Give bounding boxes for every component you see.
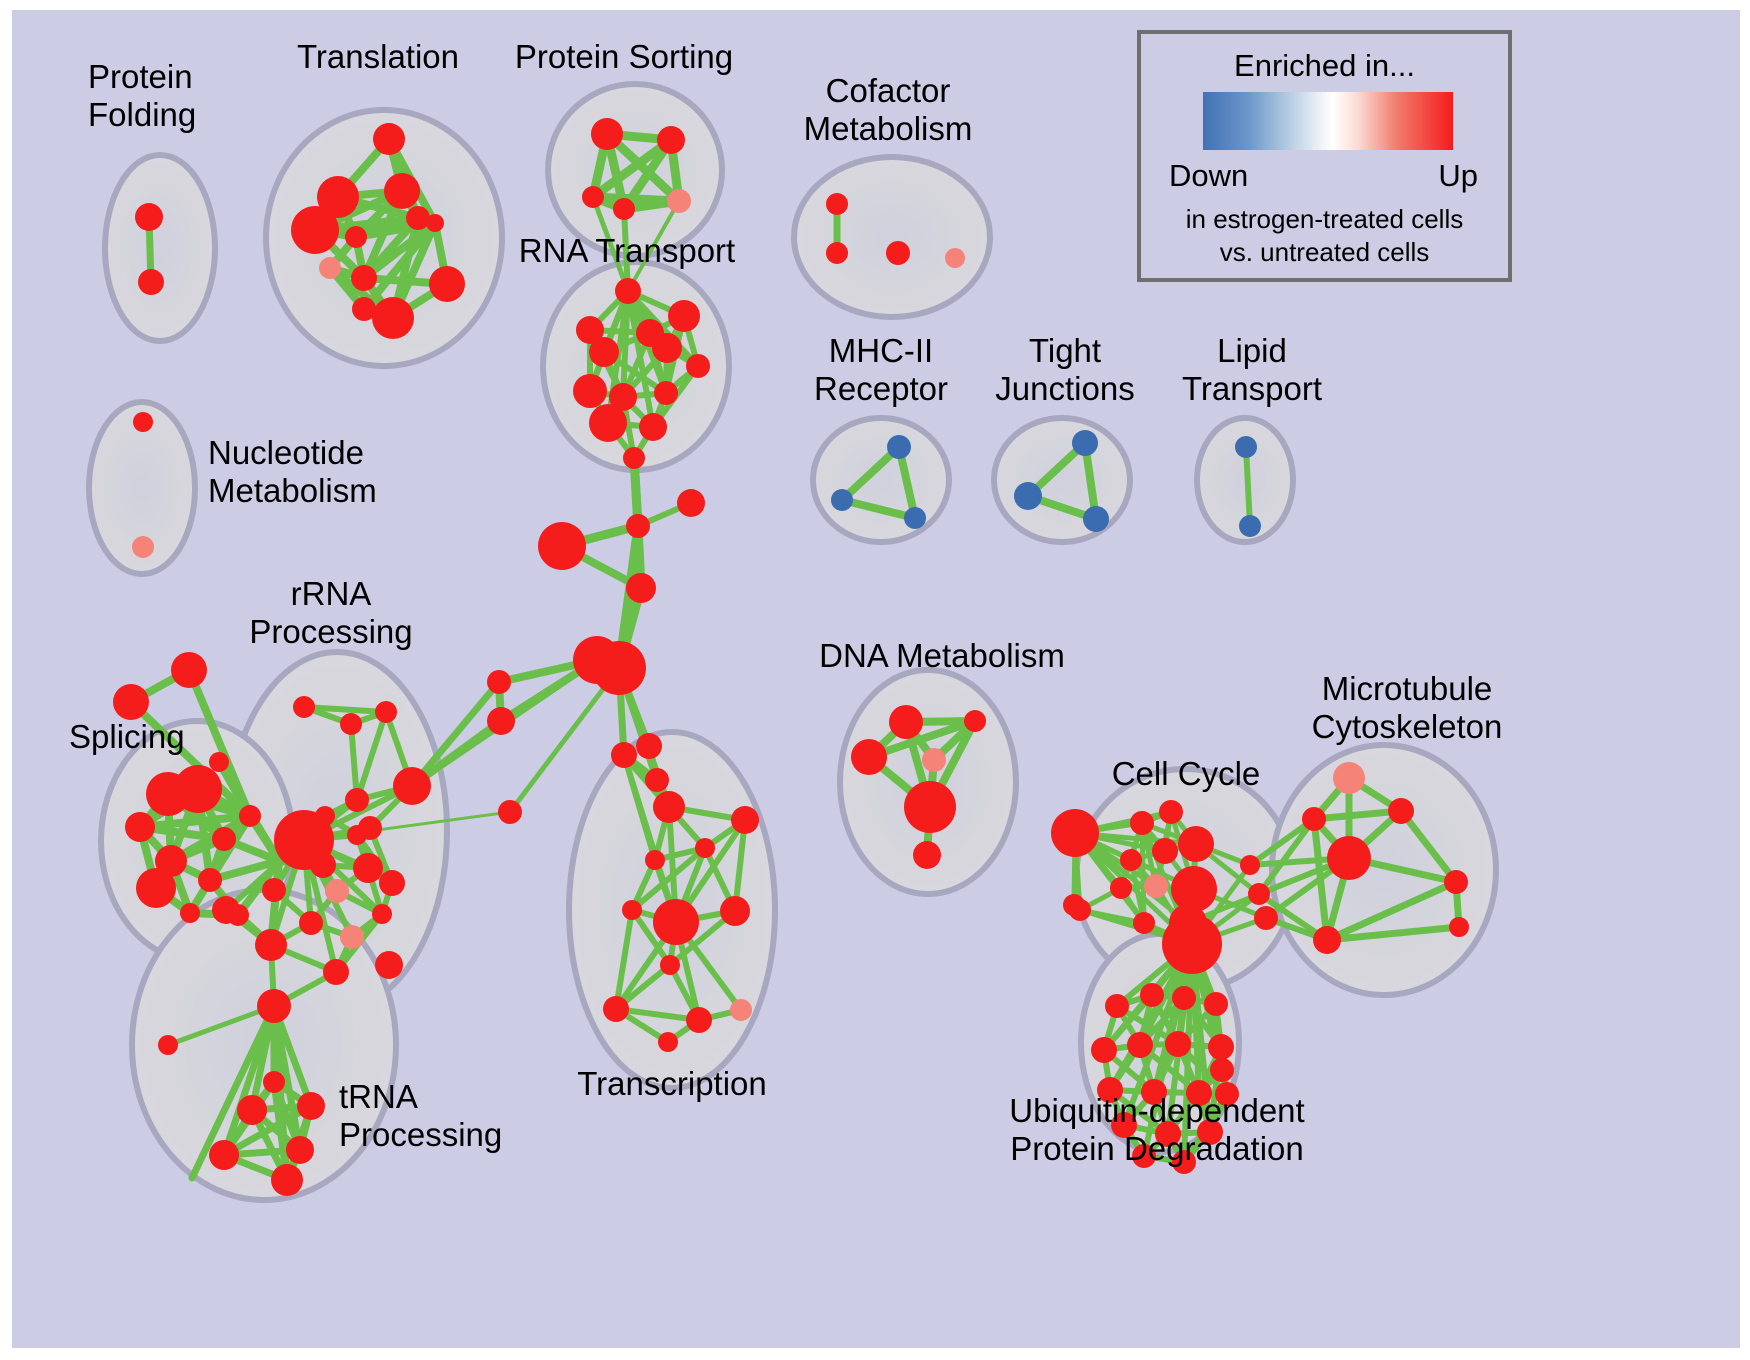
node bbox=[372, 297, 414, 339]
node bbox=[1204, 992, 1228, 1016]
node bbox=[573, 374, 607, 408]
node bbox=[209, 752, 229, 772]
node bbox=[132, 536, 154, 558]
node bbox=[1254, 906, 1278, 930]
cluster-label-tight-junctions: Tight Junctions bbox=[995, 332, 1134, 408]
node bbox=[384, 173, 420, 209]
node bbox=[291, 206, 339, 254]
node bbox=[654, 381, 678, 405]
color-scale-gradient bbox=[1203, 92, 1453, 150]
node bbox=[1072, 430, 1098, 456]
node bbox=[826, 242, 848, 264]
node bbox=[297, 1092, 325, 1120]
node bbox=[1449, 917, 1469, 937]
node bbox=[113, 684, 149, 720]
node bbox=[212, 827, 236, 851]
node bbox=[353, 853, 383, 883]
node bbox=[667, 189, 691, 213]
node bbox=[1444, 870, 1468, 894]
node bbox=[375, 701, 397, 723]
cluster-label-dna-metabolism: DNA Metabolism bbox=[819, 637, 1065, 675]
node bbox=[1127, 1032, 1153, 1058]
legend-high-label: Up bbox=[1438, 158, 1478, 194]
node bbox=[498, 800, 522, 824]
node bbox=[293, 696, 315, 718]
node bbox=[174, 765, 222, 813]
node bbox=[1388, 798, 1414, 824]
cluster-label-ubiquitin-protein-degradation: Ubiquitin-dependent Protein Degradation bbox=[1009, 1092, 1304, 1168]
node bbox=[209, 1140, 239, 1170]
node bbox=[730, 999, 752, 1021]
node bbox=[323, 959, 349, 985]
node bbox=[138, 269, 164, 295]
node bbox=[615, 278, 641, 304]
node bbox=[686, 1007, 712, 1033]
node bbox=[904, 507, 926, 529]
cluster-label-cell-cycle: Cell Cycle bbox=[1112, 755, 1261, 793]
cluster-label-splicing: Splicing bbox=[69, 718, 185, 756]
node bbox=[1327, 836, 1371, 880]
node bbox=[158, 1035, 178, 1055]
node bbox=[831, 489, 853, 511]
node bbox=[904, 781, 956, 833]
node bbox=[1133, 912, 1155, 934]
node bbox=[922, 748, 946, 772]
node bbox=[286, 1136, 314, 1164]
legend-title: Enriched in... bbox=[1141, 48, 1508, 84]
node bbox=[198, 868, 222, 892]
node bbox=[1235, 436, 1257, 458]
node bbox=[351, 265, 377, 291]
node bbox=[239, 805, 261, 827]
node bbox=[945, 248, 965, 268]
node bbox=[1130, 811, 1154, 835]
node bbox=[1152, 838, 1178, 864]
enrichment-map-figure: Protein Folding Translation Protein Sort… bbox=[0, 0, 1750, 1360]
network-canvas: Protein Folding Translation Protein Sort… bbox=[12, 10, 1740, 1348]
node bbox=[1208, 1034, 1234, 1060]
node bbox=[487, 670, 511, 694]
node bbox=[1210, 1058, 1234, 1082]
node bbox=[591, 118, 623, 150]
node bbox=[668, 300, 700, 332]
node bbox=[1159, 800, 1183, 824]
node bbox=[1014, 482, 1042, 510]
cluster-label-microtubule-cytoskeleton: Microtubule Cytoskeleton bbox=[1312, 670, 1503, 746]
node bbox=[171, 652, 207, 688]
cluster-ellipse-mhc bbox=[813, 418, 949, 542]
node bbox=[212, 896, 240, 924]
node bbox=[299, 911, 323, 935]
node bbox=[660, 955, 680, 975]
node bbox=[636, 733, 662, 759]
cluster-label-transcription: Transcription bbox=[577, 1065, 767, 1103]
node bbox=[373, 123, 405, 155]
node bbox=[125, 812, 155, 842]
node bbox=[851, 739, 887, 775]
node bbox=[1313, 926, 1341, 954]
node bbox=[487, 707, 515, 735]
cluster-ellipse-protein-folding bbox=[105, 155, 215, 341]
cluster-label-lipid-transport: Lipid Transport bbox=[1182, 332, 1322, 408]
node bbox=[886, 241, 910, 265]
node bbox=[1333, 762, 1365, 794]
node bbox=[237, 1095, 267, 1125]
node bbox=[645, 768, 669, 792]
node bbox=[652, 333, 682, 363]
node bbox=[589, 404, 627, 442]
node bbox=[1091, 1037, 1117, 1063]
cluster-label-translation: Translation bbox=[297, 38, 459, 76]
node bbox=[1239, 515, 1261, 537]
node bbox=[255, 929, 287, 961]
node bbox=[623, 447, 645, 469]
node bbox=[1172, 986, 1196, 1010]
node bbox=[582, 186, 604, 208]
cluster-label-mhc-ii-receptor: MHC-II Receptor bbox=[814, 332, 948, 408]
node bbox=[1178, 826, 1214, 862]
cluster-label-nucleotide-metabolism: Nucleotide Metabolism bbox=[208, 434, 377, 510]
node bbox=[372, 904, 392, 924]
node bbox=[1120, 849, 1142, 871]
cluster-label-rna-transport: RNA Transport bbox=[519, 232, 735, 270]
cluster-label-cofactor-metabolism: Cofactor Metabolism bbox=[804, 72, 973, 148]
node bbox=[263, 1071, 285, 1093]
legend-subtitle-line1: in estrogen-treated cells bbox=[1141, 204, 1508, 235]
cluster-ellipse-tight bbox=[994, 418, 1130, 542]
node bbox=[887, 435, 911, 459]
node bbox=[262, 878, 286, 902]
node bbox=[379, 870, 405, 896]
node bbox=[257, 989, 291, 1023]
node bbox=[340, 713, 362, 735]
node bbox=[135, 203, 163, 231]
node bbox=[271, 1164, 303, 1196]
node bbox=[133, 412, 153, 432]
node bbox=[731, 806, 759, 834]
legend-box: Enriched in... Down Up in estrogen-treat… bbox=[1137, 30, 1512, 282]
node bbox=[657, 126, 685, 154]
node bbox=[393, 767, 431, 805]
node bbox=[826, 193, 848, 215]
node bbox=[375, 951, 403, 979]
node bbox=[1162, 914, 1222, 974]
node bbox=[622, 900, 642, 920]
node bbox=[603, 996, 629, 1022]
node bbox=[1105, 994, 1129, 1018]
node bbox=[325, 879, 349, 903]
node bbox=[645, 850, 665, 870]
node bbox=[1140, 983, 1164, 1007]
node bbox=[653, 791, 685, 823]
node bbox=[677, 489, 705, 517]
node bbox=[347, 825, 367, 845]
node bbox=[1063, 894, 1085, 916]
node bbox=[592, 641, 646, 695]
cluster-label-rrna-processing: rRNA Processing bbox=[249, 575, 412, 651]
legend-low-label: Down bbox=[1169, 158, 1248, 194]
node bbox=[913, 841, 941, 869]
legend-subtitle-line2: vs. untreated cells bbox=[1141, 237, 1508, 268]
node bbox=[429, 266, 465, 302]
node bbox=[1240, 855, 1260, 875]
node bbox=[1051, 809, 1099, 857]
node bbox=[406, 206, 430, 230]
cluster-ellipse-cofactor bbox=[794, 157, 990, 317]
node bbox=[180, 903, 200, 923]
node bbox=[695, 838, 715, 858]
node bbox=[345, 788, 369, 812]
node bbox=[613, 198, 635, 220]
node bbox=[686, 354, 710, 378]
node bbox=[426, 214, 444, 232]
node bbox=[1165, 1031, 1191, 1057]
node bbox=[310, 852, 336, 878]
node bbox=[136, 868, 176, 908]
cluster-label-protein-folding: Protein Folding bbox=[88, 58, 196, 134]
node bbox=[626, 514, 650, 538]
cluster-ellipse-microtubule bbox=[1272, 745, 1496, 995]
node bbox=[340, 925, 364, 949]
node bbox=[658, 1032, 678, 1052]
node bbox=[538, 522, 586, 570]
node bbox=[964, 710, 986, 732]
node bbox=[720, 896, 750, 926]
node bbox=[1110, 877, 1132, 899]
node bbox=[1248, 883, 1270, 905]
node bbox=[611, 742, 637, 768]
node bbox=[626, 573, 656, 603]
node bbox=[345, 226, 367, 248]
node bbox=[1083, 506, 1109, 532]
node bbox=[889, 705, 923, 739]
node bbox=[1302, 807, 1326, 831]
node bbox=[653, 899, 699, 945]
node bbox=[589, 337, 619, 367]
node bbox=[1144, 874, 1168, 898]
node bbox=[319, 257, 341, 279]
cluster-label-protein-sorting: Protein Sorting bbox=[515, 38, 733, 76]
node bbox=[639, 413, 667, 441]
cluster-label-trna-processing: tRNA Processing bbox=[339, 1078, 502, 1154]
